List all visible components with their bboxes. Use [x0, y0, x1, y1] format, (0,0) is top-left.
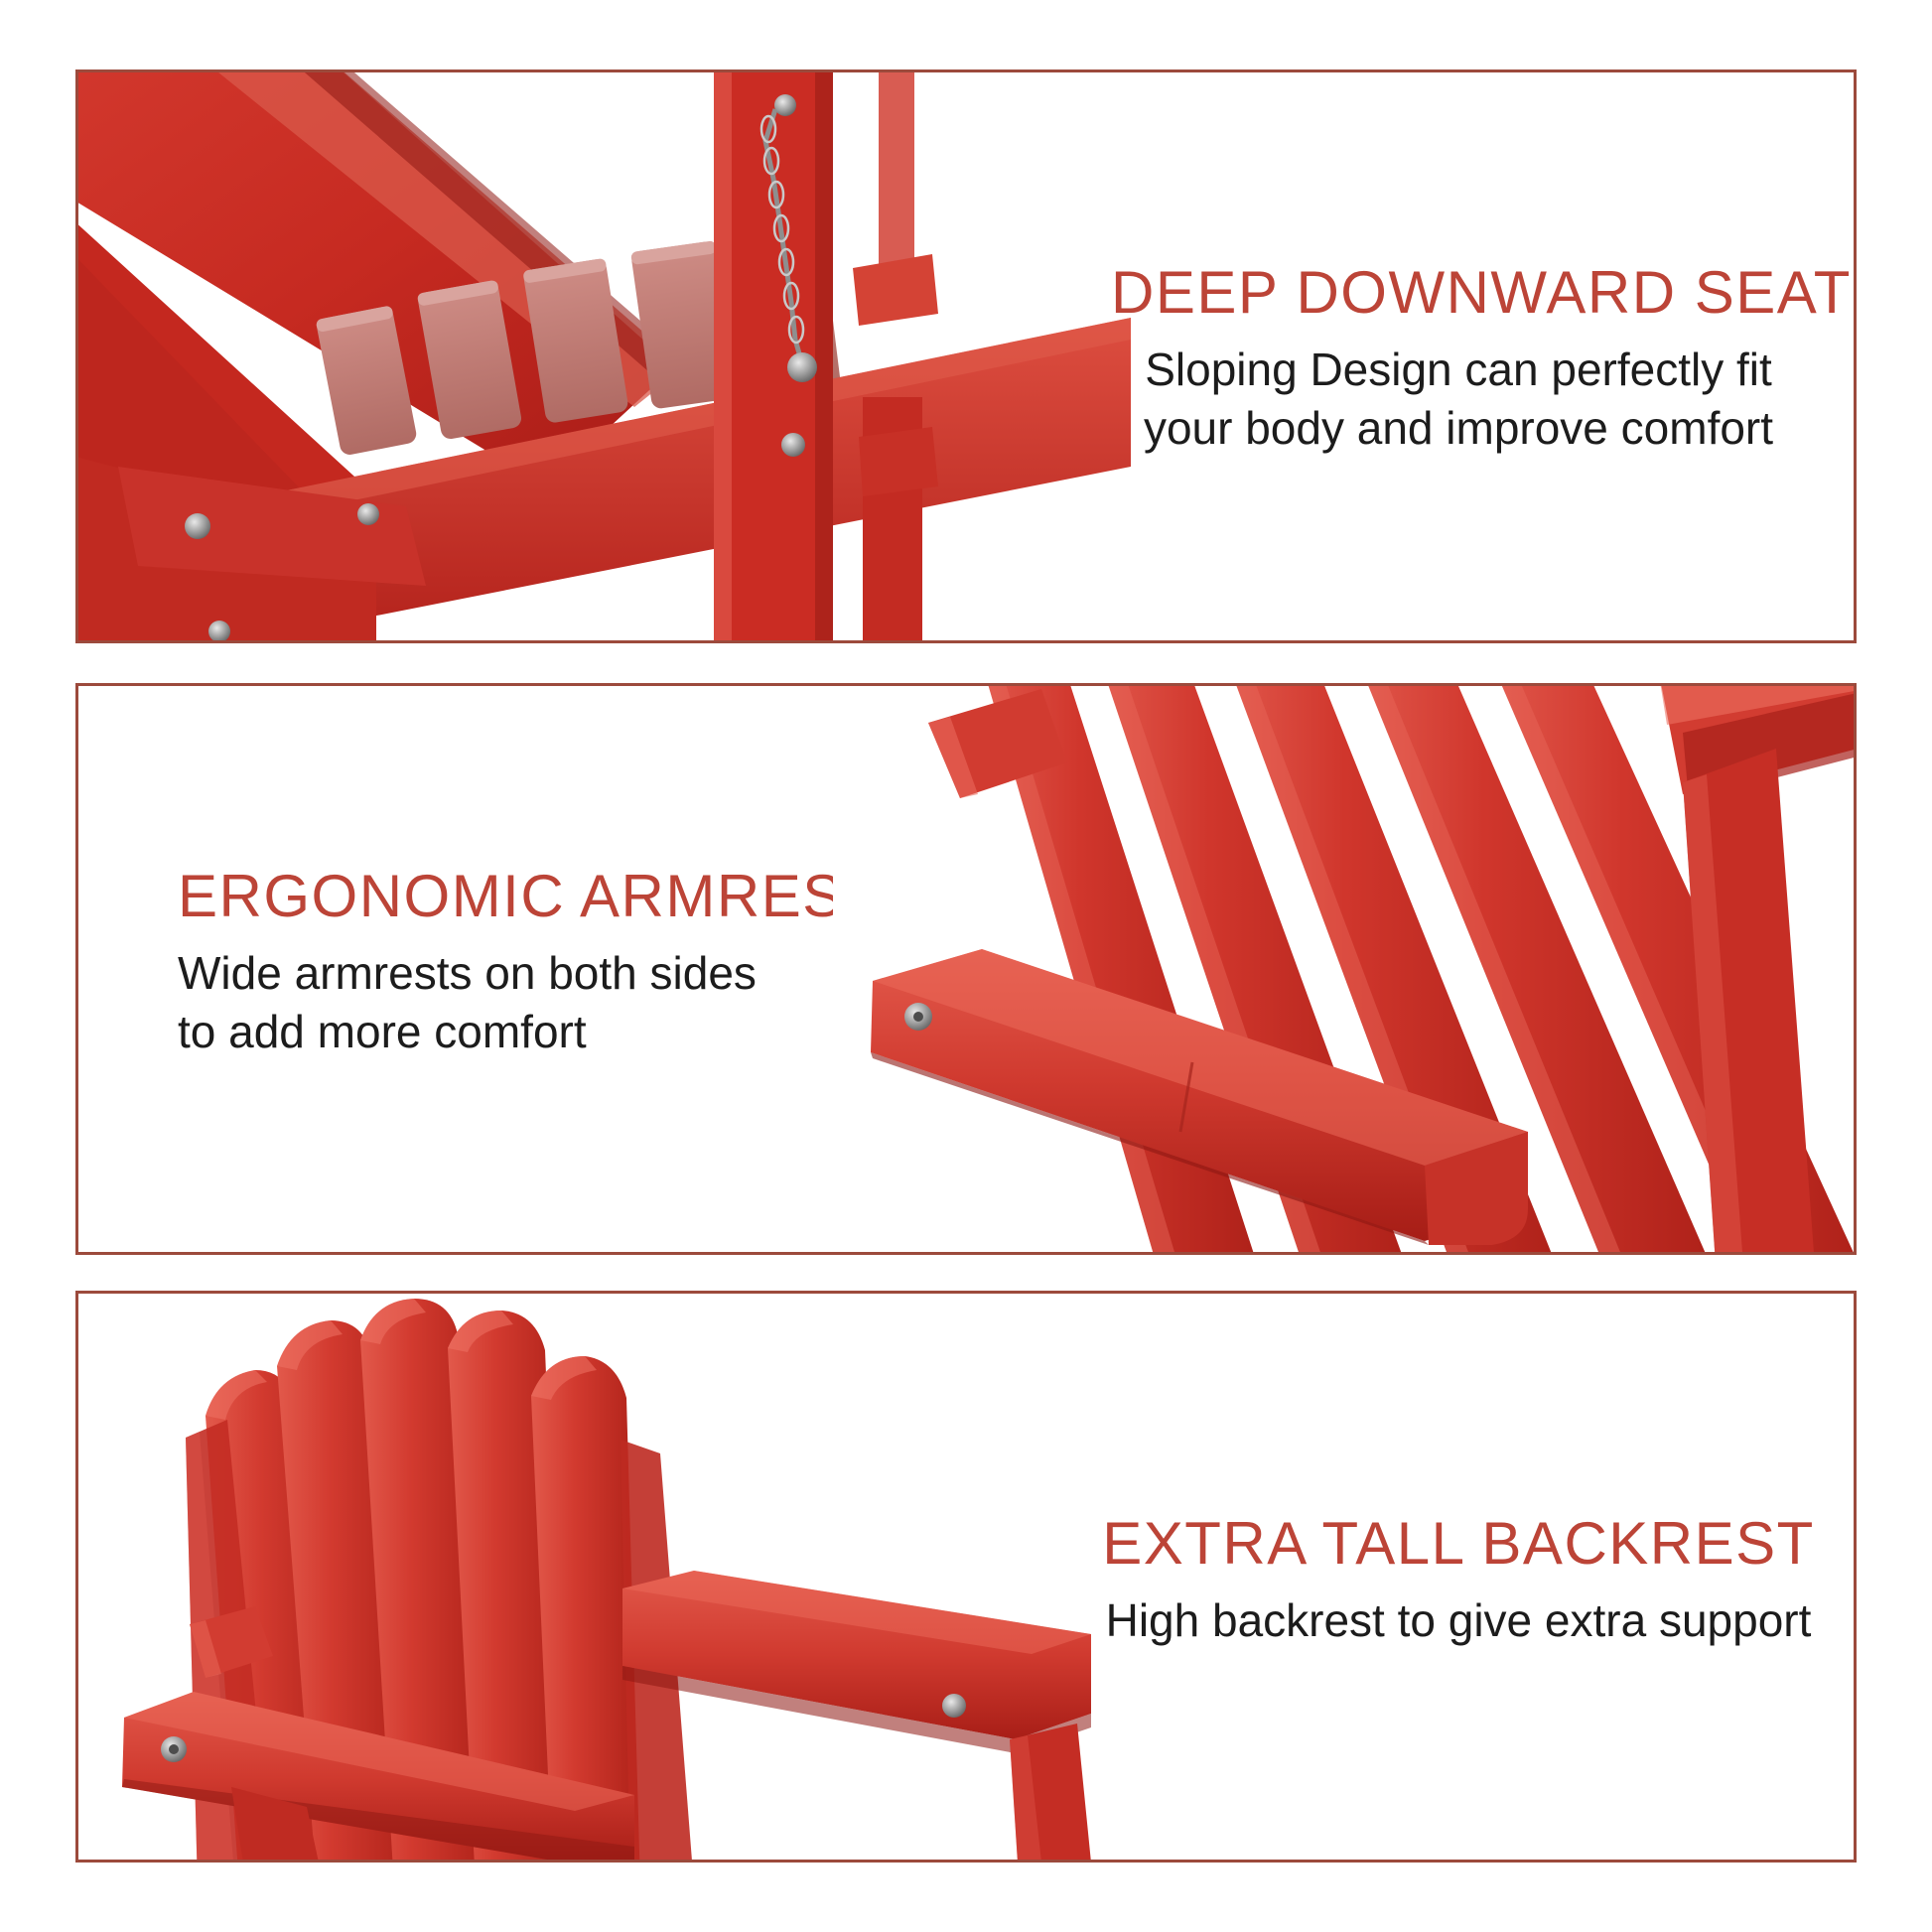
panel-2-subline-2: to add more comfort [178, 1003, 893, 1062]
panel-1-subline-2: your body and improve comfort [1111, 399, 1806, 459]
screw-icon [774, 94, 796, 116]
panel-3-heading: EXTRA TALL BACKREST [1071, 1512, 1846, 1576]
chair-backrest-illustration [78, 1294, 1091, 1860]
feature-panel-extra-tall-backrest: EXTRA TALL BACKREST High backrest to giv… [75, 1291, 1857, 1863]
feature-text-extra-tall-backrest: EXTRA TALL BACKREST High backrest to giv… [1071, 1512, 1846, 1650]
screw-icon [787, 352, 817, 382]
panel-3-subline-1: High backrest to give extra support [1071, 1591, 1846, 1651]
screw-icon [357, 503, 379, 525]
chair-seat-illustration [78, 72, 1131, 640]
infographic-canvas: DEEP DOWNWARD SEAT Sloping Design can pe… [0, 0, 1932, 1932]
feature-panel-ergonomic-armrest: ERGONOMIC ARMREST Wide armrests on both … [75, 683, 1857, 1255]
screw-icon [942, 1694, 966, 1718]
panel-2-heading: ERGONOMIC ARMREST [178, 865, 893, 928]
screw-icon [781, 433, 805, 457]
feature-text-ergonomic-armrest: ERGONOMIC ARMREST Wide armrests on both … [178, 865, 893, 1062]
chair-armrest-illustration [833, 686, 1857, 1252]
feature-panel-deep-downward-seat: DEEP DOWNWARD SEAT Sloping Design can pe… [75, 69, 1857, 643]
product-photo-ergonomic-armrest [833, 686, 1857, 1252]
screw-icon [185, 513, 210, 539]
product-photo-deep-downward-seat [78, 72, 1131, 640]
panel-2-subline-1: Wide armrests on both sides [178, 944, 893, 1004]
product-photo-extra-tall-backrest [78, 1294, 1091, 1860]
panel-1-subline-1: Sloping Design can perfectly fit [1111, 341, 1806, 400]
panel-1-heading: DEEP DOWNWARD SEAT [1111, 261, 1806, 325]
feature-text-deep-downward-seat: DEEP DOWNWARD SEAT Sloping Design can pe… [1111, 261, 1806, 459]
